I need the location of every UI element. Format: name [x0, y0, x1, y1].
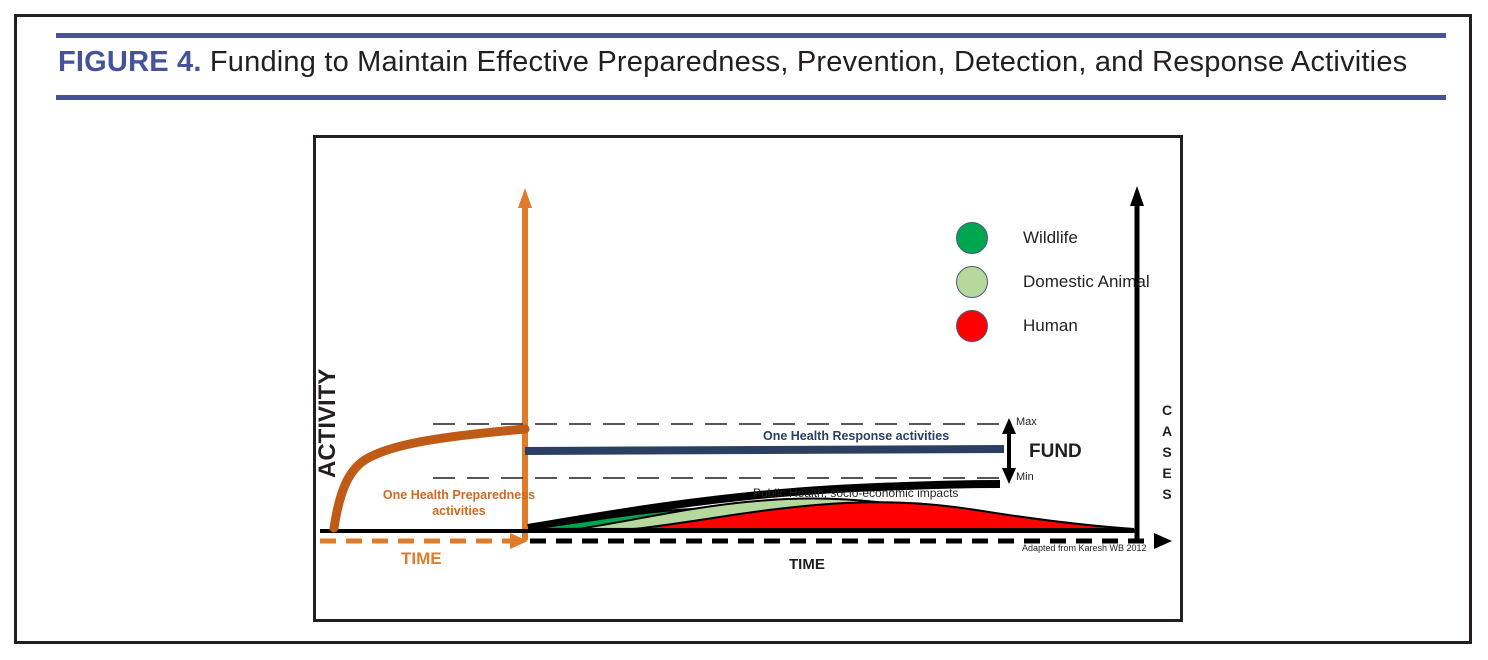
cases-letter-s1: S	[1162, 442, 1172, 463]
y-axis-label-activity: ACTIVITY	[314, 369, 342, 478]
chart-plot-area: Wildlife Domestic Animal Human ACTIVITY …	[316, 138, 1186, 625]
legend-item-domestic-animal: Domestic Animal	[956, 260, 1150, 304]
legend-item-wildlife: Wildlife	[956, 216, 1150, 260]
title-rule-top	[56, 33, 1446, 38]
cases-letter-a: A	[1162, 421, 1172, 442]
title-rule-bottom	[56, 95, 1446, 100]
fund-min-label: Min	[1016, 471, 1034, 483]
annotation-impacts: Public Health, socio-economic impacts	[753, 486, 958, 500]
legend-swatch-human	[956, 310, 988, 342]
figure-title-text: Funding to Maintain Effective Preparedne…	[210, 46, 1407, 78]
annotation-response: One Health Response activities	[763, 429, 949, 443]
x-axis-label-time-response: TIME	[789, 556, 825, 573]
legend-swatch-wildlife	[956, 222, 988, 254]
source-credit: Adapted from Karesh WB 2012	[1022, 543, 1147, 553]
figure-page: FIGURE 4. Funding to Maintain Effective …	[0, 0, 1488, 660]
fund-max-label: Max	[1016, 416, 1037, 428]
fund-label: FUND	[1029, 441, 1082, 463]
legend-label-human: Human	[1023, 316, 1078, 336]
legend-label-wildlife: Wildlife	[1023, 228, 1078, 248]
chart-legend: Wildlife Domestic Animal Human	[956, 216, 1150, 348]
x-axis-label-time-preparedness: TIME	[401, 549, 442, 569]
chart-panel: Wildlife Domestic Animal Human ACTIVITY …	[313, 135, 1183, 622]
preparedness-time-axis	[320, 533, 528, 549]
annotation-preparedness: One Health Preparedness activities	[364, 487, 554, 519]
legend-label-domestic-animal: Domestic Animal	[1023, 272, 1150, 292]
legend-item-human: Human	[956, 304, 1150, 348]
fund-range-arrow	[1002, 418, 1016, 484]
y2-axis-label-cases: C A S E S	[1162, 400, 1172, 505]
cases-letter-e: E	[1162, 463, 1172, 484]
page-title: FIGURE 4. Funding to Maintain Effective …	[58, 46, 1438, 90]
response-curve	[525, 449, 1004, 451]
legend-swatch-domestic-animal	[956, 266, 988, 298]
cases-letter-c: C	[1162, 400, 1172, 421]
figure-number-label: FIGURE 4.	[58, 46, 202, 78]
cases-letter-s2: S	[1162, 484, 1172, 505]
